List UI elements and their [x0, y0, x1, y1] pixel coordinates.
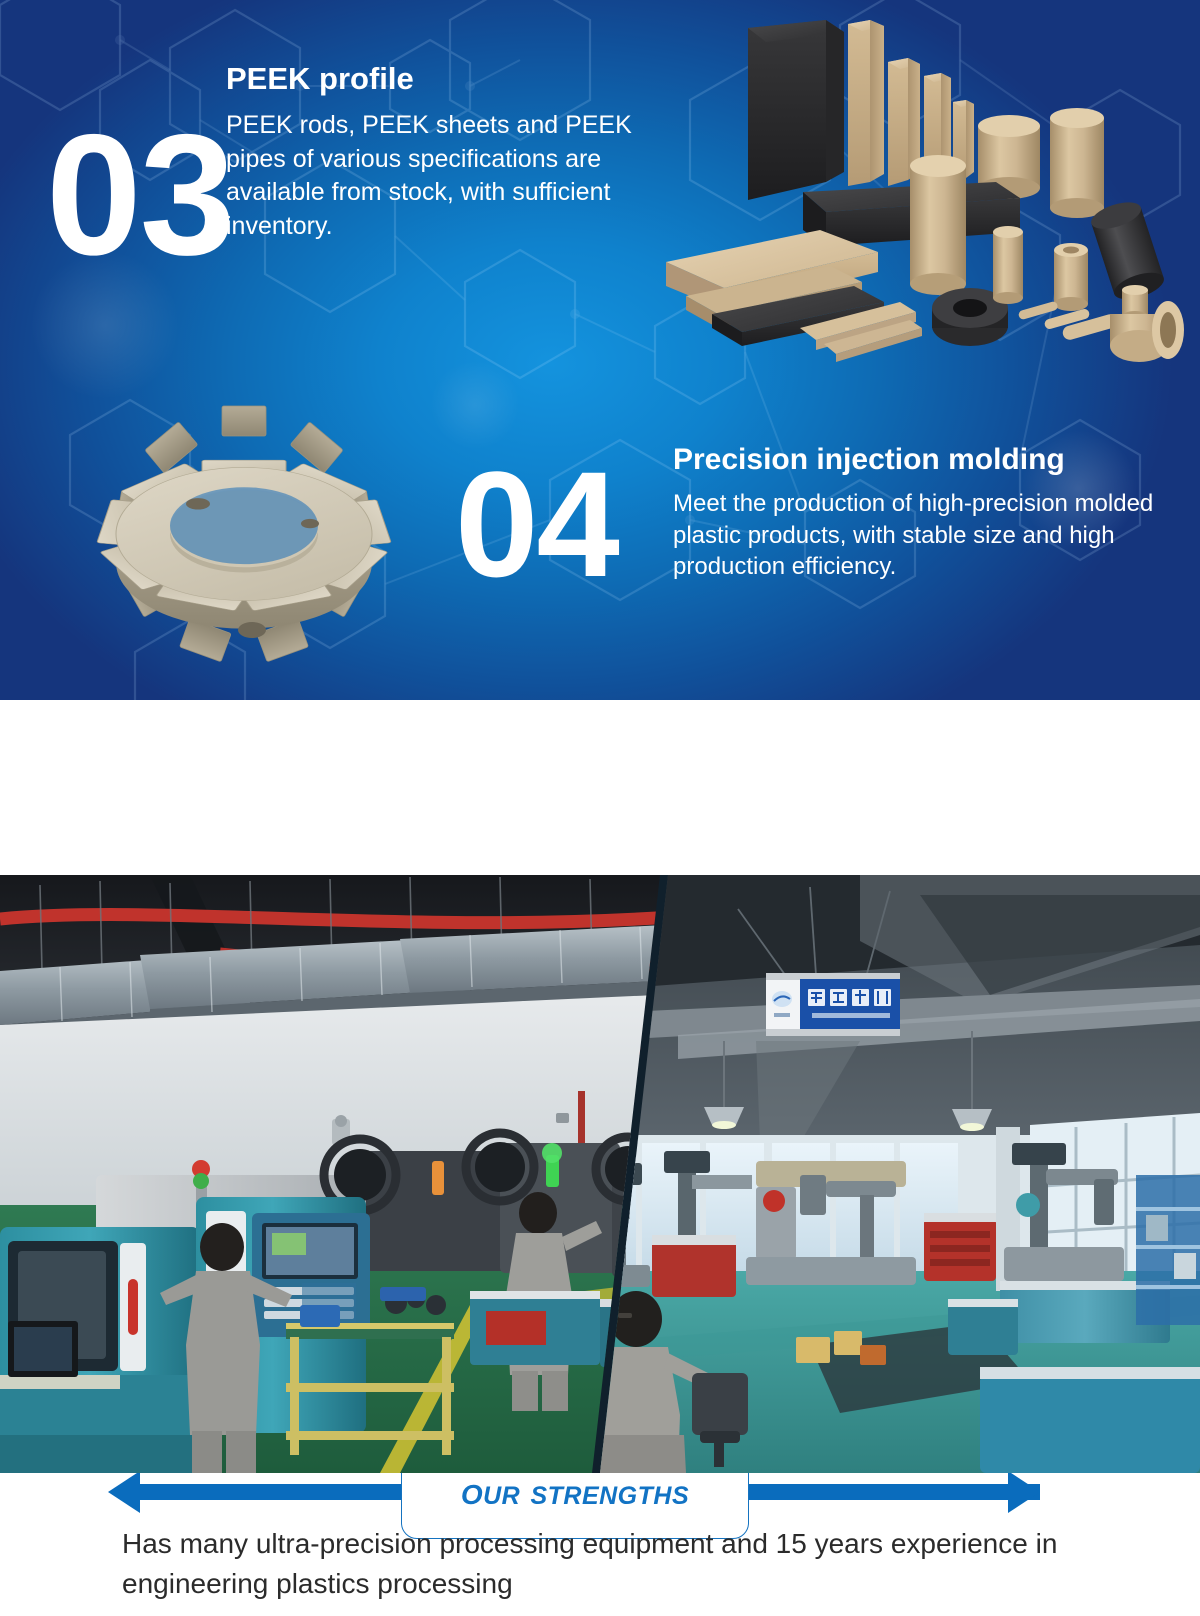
left-arrow-shaft: [138, 1484, 430, 1500]
feature-number-04: 04: [455, 460, 618, 589]
peek-products-image: [648, 14, 1200, 374]
feature-body-04: Meet the production of high-precision mo…: [673, 488, 1173, 583]
feature-block-04: 04 Precision injection molding Meet the …: [455, 432, 1175, 662]
right-arrow-icon: [1008, 1471, 1040, 1513]
feature-body-03: PEEK rods, PEEK sheets and PEEK pipes of…: [226, 109, 666, 243]
bottom-caption: Has many ultra-precision processing equi…: [0, 1510, 1200, 1604]
feature-number-03: 03: [46, 122, 233, 270]
feature-block-03: 03 PEEK profile PEEK rods, PEEK sheets a…: [28, 60, 658, 340]
left-arrow-icon: [108, 1471, 140, 1513]
mold-workshop-photo: [560, 875, 1200, 1473]
peek-gear-ring-image: [34, 402, 454, 684]
our-strengths-banner: Our strengths: [0, 700, 1200, 872]
hero-panel: 03 PEEK profile PEEK rods, PEEK sheets a…: [0, 0, 1200, 700]
strengths-label: Our strengths: [461, 1469, 689, 1514]
feature-title-03: PEEK profile: [226, 60, 666, 97]
right-arrow-shaft: [748, 1484, 1040, 1500]
cnc-machining-workshop-photo: [0, 875, 700, 1473]
workshop-photo-strip: [0, 875, 1200, 1473]
feature-title-04: Precision injection molding: [673, 442, 1173, 478]
